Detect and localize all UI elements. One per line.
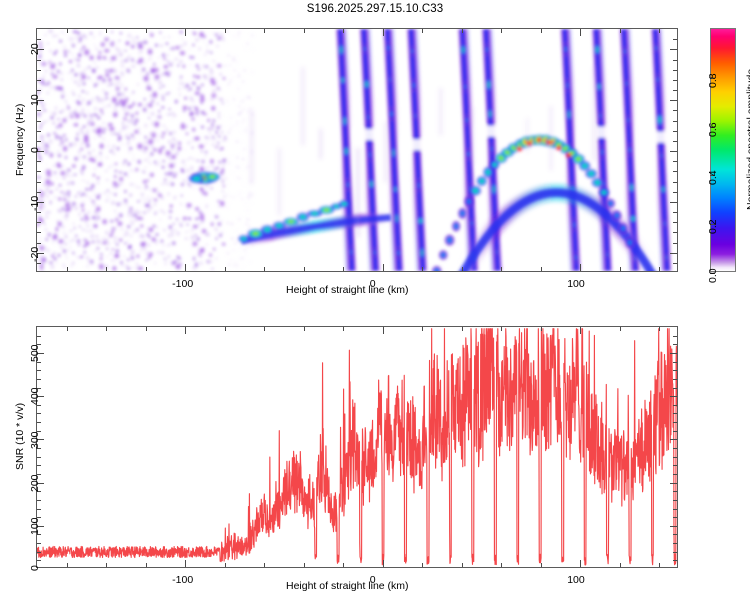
xtick-major (383, 327, 384, 334)
xtick-minor (264, 327, 265, 331)
xtick-major (580, 264, 581, 271)
snr-ylabel: SNR (10 * v/v) (14, 403, 26, 470)
ytick-label: -20 (29, 247, 41, 262)
snr-plot-area[interactable] (36, 326, 678, 568)
colorbar-tick-label: 0.6 (707, 122, 719, 137)
ytick-minor (37, 379, 41, 380)
xtick-minor (304, 29, 305, 33)
xtick-minor (264, 563, 265, 567)
ytick-minor (37, 457, 41, 458)
ytick-label: -10 (29, 196, 41, 211)
xtick-minor (620, 29, 621, 33)
ytick-label: 200 (29, 474, 41, 492)
spectrogram-plot-area[interactable] (36, 28, 678, 272)
ytick-minor (673, 243, 677, 244)
ytick-minor (673, 457, 677, 458)
ytick-minor (37, 552, 41, 553)
ytick-label: 500 (29, 345, 41, 363)
ytick-minor (37, 192, 41, 193)
xtick-minor (304, 267, 305, 271)
xtick-minor (225, 327, 226, 331)
xtick-label: 0 (370, 278, 376, 290)
ytick-major (670, 100, 677, 101)
ytick-minor (673, 161, 677, 162)
spectrogram-xlabel: Height of straight line (km) (286, 284, 409, 296)
ytick-minor (673, 491, 677, 492)
xtick-minor (225, 563, 226, 567)
ytick-minor (673, 39, 677, 40)
xtick-major (580, 29, 581, 36)
xtick-minor (501, 29, 502, 33)
xtick-minor (304, 563, 305, 567)
ytick-major (670, 439, 677, 440)
ytick-label: 400 (29, 388, 41, 406)
ytick-minor (673, 336, 677, 337)
xtick-minor (462, 29, 463, 33)
xtick-major (383, 560, 384, 567)
xtick-minor (106, 267, 107, 271)
ytick-minor (673, 552, 677, 553)
ytick-label: 20 (29, 43, 41, 55)
xtick-major (185, 560, 186, 567)
ytick-minor (673, 110, 677, 111)
xtick-minor (146, 29, 147, 33)
xtick-minor (304, 327, 305, 331)
ytick-minor (37, 131, 41, 132)
xtick-minor (67, 327, 68, 331)
ytick-minor (37, 560, 41, 561)
xtick-minor (620, 267, 621, 271)
ytick-major (670, 396, 677, 397)
ytick-minor (37, 171, 41, 172)
ytick-minor (37, 141, 41, 142)
ytick-minor (37, 232, 41, 233)
ytick-minor (37, 465, 41, 466)
ytick-minor (673, 534, 677, 535)
xtick-minor (659, 29, 660, 33)
ytick-minor (673, 212, 677, 213)
xtick-major (580, 327, 581, 334)
xtick-minor (67, 267, 68, 271)
ytick-minor (673, 121, 677, 122)
ytick-minor (673, 509, 677, 510)
xtick-minor (343, 563, 344, 567)
snr-xlabel: Height of straight line (km) (286, 580, 409, 592)
ytick-minor (673, 141, 677, 142)
xtick-minor (462, 267, 463, 271)
ytick-major (670, 526, 677, 527)
xtick-label: -100 (172, 574, 193, 586)
ytick-minor (673, 232, 677, 233)
xtick-major (580, 560, 581, 567)
ytick-minor (37, 70, 41, 71)
xtick-minor (659, 563, 660, 567)
xtick-major (383, 264, 384, 271)
ytick-minor (37, 509, 41, 510)
ytick-minor (673, 80, 677, 81)
ytick-major (670, 483, 677, 484)
ytick-minor (673, 344, 677, 345)
ytick-minor (37, 422, 41, 423)
xtick-major (383, 29, 384, 36)
page-title: S196.2025.297.15.10.C33 (0, 3, 750, 15)
spectrogram-canvas (37, 29, 677, 271)
xtick-minor (225, 29, 226, 33)
colorbar-tick-label: 0.4 (707, 171, 719, 186)
xtick-label: 100 (567, 574, 585, 586)
ytick-minor (673, 362, 677, 363)
xtick-minor (106, 327, 107, 331)
ytick-minor (37, 60, 41, 61)
ytick-minor (673, 560, 677, 561)
xtick-major (185, 327, 186, 334)
ytick-minor (673, 422, 677, 423)
xtick-minor (146, 563, 147, 567)
ytick-minor (37, 500, 41, 501)
xtick-minor (541, 267, 542, 271)
ytick-major (670, 253, 677, 254)
xtick-minor (422, 327, 423, 331)
figure-canvas: S196.2025.297.15.10.C33 (0, 0, 750, 600)
ytick-minor (673, 388, 677, 389)
xtick-minor (541, 327, 542, 331)
xtick-minor (462, 327, 463, 331)
ytick-minor (673, 131, 677, 132)
ytick-minor (673, 379, 677, 380)
xtick-minor (501, 563, 502, 567)
ytick-minor (673, 500, 677, 501)
ytick-minor (673, 370, 677, 371)
ytick-minor (673, 60, 677, 61)
xtick-minor (541, 29, 542, 33)
ytick-major (670, 49, 677, 50)
xtick-label: 100 (567, 278, 585, 290)
xtick-minor (422, 29, 423, 33)
ytick-minor (673, 474, 677, 475)
ytick-minor (37, 161, 41, 162)
ytick-minor (673, 431, 677, 432)
ytick-minor (673, 465, 677, 466)
xtick-minor (541, 563, 542, 567)
ytick-minor (37, 263, 41, 264)
xtick-major (185, 264, 186, 271)
xtick-minor (620, 327, 621, 331)
colorbar-tick-label: 0.0 (707, 268, 719, 283)
xtick-major (185, 29, 186, 36)
ytick-minor (37, 39, 41, 40)
ytick-minor (673, 517, 677, 518)
xtick-minor (659, 267, 660, 271)
colorbar-tick-label: 0.8 (707, 73, 719, 88)
ytick-label: 10 (29, 94, 41, 106)
xtick-minor (462, 563, 463, 567)
ytick-minor (37, 110, 41, 111)
xtick-minor (67, 29, 68, 33)
snr-canvas (37, 327, 677, 567)
spectrogram-image (37, 29, 677, 271)
ytick-minor (37, 182, 41, 183)
ytick-minor (37, 90, 41, 91)
ytick-minor (673, 405, 677, 406)
ytick-minor (673, 543, 677, 544)
colorbar-tick-label: 0.2 (707, 220, 719, 235)
ytick-minor (673, 413, 677, 414)
noise-speckle-field (37, 29, 255, 271)
xtick-minor (343, 29, 344, 33)
ytick-label: 100 (29, 517, 41, 535)
xtick-minor (501, 327, 502, 331)
xtick-minor (264, 29, 265, 33)
ytick-minor (673, 222, 677, 223)
xtick-minor (67, 563, 68, 567)
xtick-label: -100 (172, 278, 193, 290)
xtick-label: 0 (370, 574, 376, 586)
ytick-minor (37, 413, 41, 414)
ytick-major (670, 353, 677, 354)
ytick-minor (673, 448, 677, 449)
ytick-minor (37, 336, 41, 337)
xtick-minor (106, 29, 107, 33)
ytick-label: 0 (29, 566, 41, 572)
ytick-minor (673, 192, 677, 193)
ytick-major (670, 151, 677, 152)
xtick-minor (659, 327, 660, 331)
ytick-minor (37, 80, 41, 81)
spectrogram-ylabel: Frequency (Hz) (14, 104, 26, 176)
xtick-minor (146, 267, 147, 271)
xtick-minor (264, 267, 265, 271)
ytick-minor (37, 212, 41, 213)
ytick-minor (37, 243, 41, 244)
colorbar-label: Normalized spectral amplitude (745, 69, 750, 210)
xtick-minor (225, 267, 226, 271)
ytick-minor (37, 370, 41, 371)
ytick-label: 0 (29, 148, 41, 154)
ytick-minor (673, 182, 677, 183)
ytick-minor (673, 263, 677, 264)
ytick-minor (37, 543, 41, 544)
xtick-minor (422, 267, 423, 271)
ytick-major (670, 202, 677, 203)
snr-trace (37, 329, 677, 565)
ytick-minor (673, 70, 677, 71)
ytick-label: 300 (29, 431, 41, 449)
xtick-minor (106, 563, 107, 567)
xtick-minor (343, 267, 344, 271)
snr-line-series (37, 327, 677, 567)
xtick-minor (146, 327, 147, 331)
xtick-minor (343, 327, 344, 331)
xtick-minor (501, 267, 502, 271)
ytick-minor (673, 171, 677, 172)
xtick-minor (422, 563, 423, 567)
ytick-minor (37, 121, 41, 122)
xtick-minor (620, 563, 621, 567)
ytick-minor (37, 222, 41, 223)
ytick-minor (673, 90, 677, 91)
colorbar (710, 28, 736, 272)
